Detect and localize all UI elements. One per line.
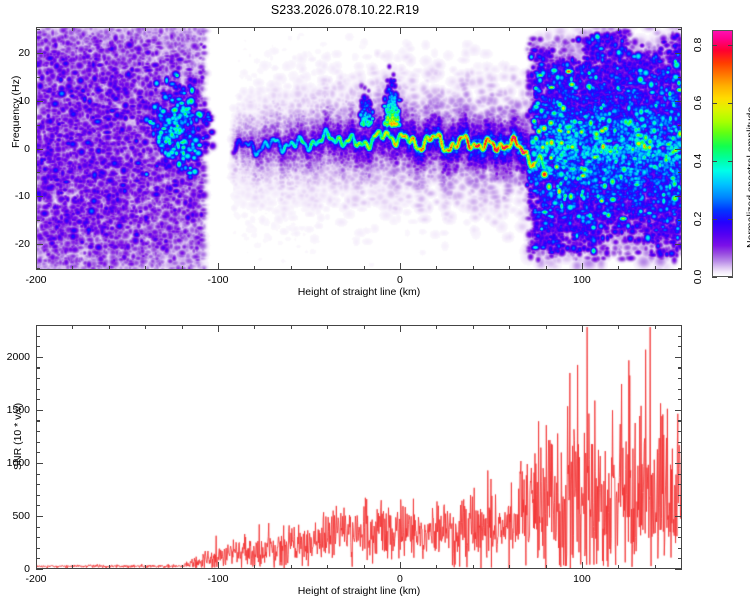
y-tick bbox=[36, 244, 43, 245]
snr-xlabel: Height of straight line (km) bbox=[298, 585, 421, 597]
figure-title: S233.2026.078.10.22.R19 bbox=[0, 3, 690, 17]
x-tick-top bbox=[436, 27, 437, 31]
y-tick bbox=[36, 431, 40, 432]
colorbar bbox=[712, 30, 733, 277]
y-tick bbox=[36, 484, 40, 485]
colorbar-label: Normalized spectral amplitude bbox=[745, 107, 750, 248]
x-tick bbox=[582, 562, 583, 569]
y-tick bbox=[36, 336, 40, 337]
x-tick bbox=[36, 263, 37, 270]
y-tick-right bbox=[678, 77, 682, 78]
y-tick-right bbox=[678, 172, 682, 173]
x-tick bbox=[582, 263, 583, 270]
y-tick bbox=[36, 357, 43, 358]
y-tick bbox=[36, 196, 43, 197]
x-tick-top bbox=[327, 325, 328, 329]
y-tick bbox=[36, 149, 43, 150]
snr-panel bbox=[36, 325, 682, 569]
y-tick-right bbox=[678, 527, 682, 528]
y-tick-right bbox=[678, 558, 682, 559]
x-tick bbox=[254, 565, 255, 569]
y-tick bbox=[36, 389, 40, 390]
snr-x-tick-label: 100 bbox=[573, 573, 591, 585]
x-tick bbox=[509, 266, 510, 270]
snr-x-tick-label: -100 bbox=[207, 573, 228, 585]
x-tick bbox=[473, 565, 474, 569]
y-tick-right bbox=[678, 346, 682, 347]
y-tick-right bbox=[678, 452, 682, 453]
y-tick-right bbox=[675, 101, 682, 102]
x-tick-top bbox=[364, 325, 365, 329]
colorbar-tick-right bbox=[728, 103, 733, 104]
x-tick bbox=[473, 266, 474, 270]
y-tick-right bbox=[678, 548, 682, 549]
y-tick-right bbox=[678, 420, 682, 421]
x-tick bbox=[291, 266, 292, 270]
snr-ylabel: SNR (10 * v/v) bbox=[12, 403, 24, 470]
y-tick bbox=[36, 53, 43, 54]
x-tick-top bbox=[72, 27, 73, 31]
x-tick-top bbox=[254, 325, 255, 329]
y-tick-right bbox=[675, 569, 682, 570]
y-tick bbox=[36, 474, 40, 475]
spectrogram-x-tick-label: -200 bbox=[25, 274, 46, 286]
colorbar-gradient bbox=[713, 31, 732, 276]
y-tick bbox=[36, 516, 43, 517]
y-tick-right bbox=[675, 196, 682, 197]
y-tick-right bbox=[678, 378, 682, 379]
x-tick-top bbox=[655, 27, 656, 31]
x-tick bbox=[400, 263, 401, 270]
spectrogram-y-tick-label: -20 bbox=[0, 238, 30, 250]
y-tick-right bbox=[678, 336, 682, 337]
x-tick-top bbox=[145, 325, 146, 329]
y-tick-right bbox=[675, 357, 682, 358]
y-tick-right bbox=[678, 268, 682, 269]
x-tick bbox=[218, 562, 219, 569]
y-tick bbox=[36, 527, 40, 528]
x-tick-top bbox=[182, 325, 183, 329]
x-tick bbox=[182, 565, 183, 569]
x-tick-top bbox=[473, 27, 474, 31]
x-tick bbox=[655, 266, 656, 270]
x-tick-top bbox=[36, 27, 37, 34]
colorbar-tick bbox=[712, 103, 717, 104]
x-tick-top bbox=[509, 27, 510, 31]
y-tick bbox=[36, 125, 40, 126]
spectrogram-y-tick-label: -10 bbox=[0, 190, 30, 202]
x-tick bbox=[145, 565, 146, 569]
x-tick-top bbox=[291, 27, 292, 31]
y-tick bbox=[36, 558, 40, 559]
y-tick-right bbox=[678, 389, 682, 390]
x-tick-top bbox=[327, 27, 328, 31]
x-tick-top bbox=[218, 27, 219, 34]
y-tick bbox=[36, 77, 40, 78]
spectrogram-x-tick-label: 100 bbox=[573, 274, 591, 286]
x-tick-top bbox=[182, 27, 183, 31]
y-tick-right bbox=[678, 29, 682, 30]
y-tick bbox=[36, 220, 40, 221]
y-tick bbox=[36, 410, 43, 411]
colorbar-tick-label: 0.4 bbox=[692, 153, 704, 168]
x-tick-top bbox=[509, 325, 510, 329]
x-tick bbox=[182, 266, 183, 270]
y-tick bbox=[36, 268, 40, 269]
colorbar-tick-right bbox=[728, 219, 733, 220]
y-tick bbox=[36, 537, 40, 538]
x-tick-top bbox=[109, 27, 110, 31]
x-tick-top bbox=[218, 325, 219, 332]
x-tick bbox=[218, 263, 219, 270]
x-tick bbox=[436, 565, 437, 569]
x-tick-top bbox=[145, 27, 146, 31]
y-tick-right bbox=[678, 505, 682, 506]
x-tick bbox=[546, 266, 547, 270]
x-tick-top bbox=[655, 325, 656, 329]
x-tick bbox=[254, 266, 255, 270]
y-tick-right bbox=[675, 516, 682, 517]
spectrogram-panel bbox=[36, 27, 682, 270]
x-tick bbox=[109, 565, 110, 569]
colorbar-tick bbox=[712, 277, 717, 278]
x-tick bbox=[145, 266, 146, 270]
colorbar-tick-right bbox=[728, 45, 733, 46]
y-tick-right bbox=[678, 442, 682, 443]
y-tick bbox=[36, 452, 40, 453]
y-tick-right bbox=[678, 325, 682, 326]
colorbar-tick-label: 0.0 bbox=[692, 270, 704, 285]
y-tick-right bbox=[678, 474, 682, 475]
x-tick-top bbox=[400, 27, 401, 34]
x-tick-top bbox=[400, 325, 401, 332]
colorbar-tick bbox=[712, 45, 717, 46]
x-tick-top bbox=[436, 325, 437, 329]
snr-trace bbox=[37, 326, 681, 568]
y-tick bbox=[36, 399, 40, 400]
y-tick bbox=[36, 101, 43, 102]
x-tick-top bbox=[582, 325, 583, 332]
y-tick bbox=[36, 29, 40, 30]
y-tick bbox=[36, 172, 40, 173]
x-tick-top bbox=[72, 325, 73, 329]
y-tick-right bbox=[678, 484, 682, 485]
colorbar-tick-label: 0.6 bbox=[692, 95, 704, 110]
x-tick bbox=[400, 562, 401, 569]
x-tick-top bbox=[546, 27, 547, 31]
x-tick-top bbox=[291, 325, 292, 329]
x-tick bbox=[364, 565, 365, 569]
spectrogram-y-tick-label: 20 bbox=[0, 47, 30, 59]
y-tick bbox=[36, 367, 40, 368]
x-tick bbox=[327, 565, 328, 569]
y-tick bbox=[36, 569, 43, 570]
x-tick bbox=[618, 266, 619, 270]
colorbar-tick-right bbox=[728, 277, 733, 278]
spectrogram-image bbox=[37, 28, 681, 269]
y-tick-right bbox=[675, 53, 682, 54]
x-tick bbox=[618, 565, 619, 569]
x-tick-top bbox=[582, 27, 583, 34]
x-tick bbox=[72, 565, 73, 569]
y-tick-right bbox=[678, 537, 682, 538]
y-tick-right bbox=[675, 410, 682, 411]
x-tick-top bbox=[254, 27, 255, 31]
colorbar-tick bbox=[712, 219, 717, 220]
colorbar-tick-label: 0.2 bbox=[692, 212, 704, 227]
spectrogram-x-tick-label: -100 bbox=[207, 274, 228, 286]
y-tick bbox=[36, 505, 40, 506]
y-tick bbox=[36, 548, 40, 549]
x-tick-top bbox=[109, 325, 110, 329]
y-tick bbox=[36, 495, 40, 496]
colorbar-tick-right bbox=[728, 161, 733, 162]
x-tick bbox=[509, 565, 510, 569]
figure-root: S233.2026.078.10.22.R19 -200-1000100-20-… bbox=[0, 0, 750, 600]
y-tick bbox=[36, 463, 43, 464]
x-tick-top bbox=[473, 325, 474, 329]
y-tick-right bbox=[678, 125, 682, 126]
y-tick-right bbox=[675, 149, 682, 150]
x-tick bbox=[546, 565, 547, 569]
x-tick bbox=[436, 266, 437, 270]
y-tick-right bbox=[678, 431, 682, 432]
y-tick-right bbox=[678, 220, 682, 221]
y-tick bbox=[36, 378, 40, 379]
snr-y-tick-label: 2000 bbox=[0, 351, 30, 363]
snr-y-tick-label: 500 bbox=[0, 510, 30, 522]
y-tick-right bbox=[675, 463, 682, 464]
spectrogram-xlabel: Height of straight line (km) bbox=[298, 286, 421, 298]
x-tick-top bbox=[364, 27, 365, 31]
y-tick-right bbox=[675, 244, 682, 245]
spectrogram-x-tick-label: 0 bbox=[397, 274, 403, 286]
y-tick-right bbox=[678, 399, 682, 400]
y-tick-right bbox=[678, 367, 682, 368]
y-tick bbox=[36, 442, 40, 443]
y-tick-right bbox=[678, 495, 682, 496]
x-tick bbox=[327, 266, 328, 270]
spectrogram-ylabel: Frequency (Hz) bbox=[10, 76, 22, 148]
colorbar-tick-label: 0.8 bbox=[692, 37, 704, 52]
snr-y-tick-label: 0 bbox=[0, 563, 30, 575]
x-tick bbox=[36, 562, 37, 569]
y-tick bbox=[36, 325, 40, 326]
x-tick bbox=[109, 266, 110, 270]
y-tick bbox=[36, 420, 40, 421]
x-tick bbox=[364, 266, 365, 270]
x-tick-top bbox=[546, 325, 547, 329]
x-tick-top bbox=[618, 27, 619, 31]
x-tick-top bbox=[618, 325, 619, 329]
x-tick bbox=[655, 565, 656, 569]
x-tick bbox=[291, 565, 292, 569]
y-tick bbox=[36, 346, 40, 347]
snr-x-tick-label: 0 bbox=[397, 573, 403, 585]
x-tick bbox=[72, 266, 73, 270]
colorbar-tick bbox=[712, 161, 717, 162]
